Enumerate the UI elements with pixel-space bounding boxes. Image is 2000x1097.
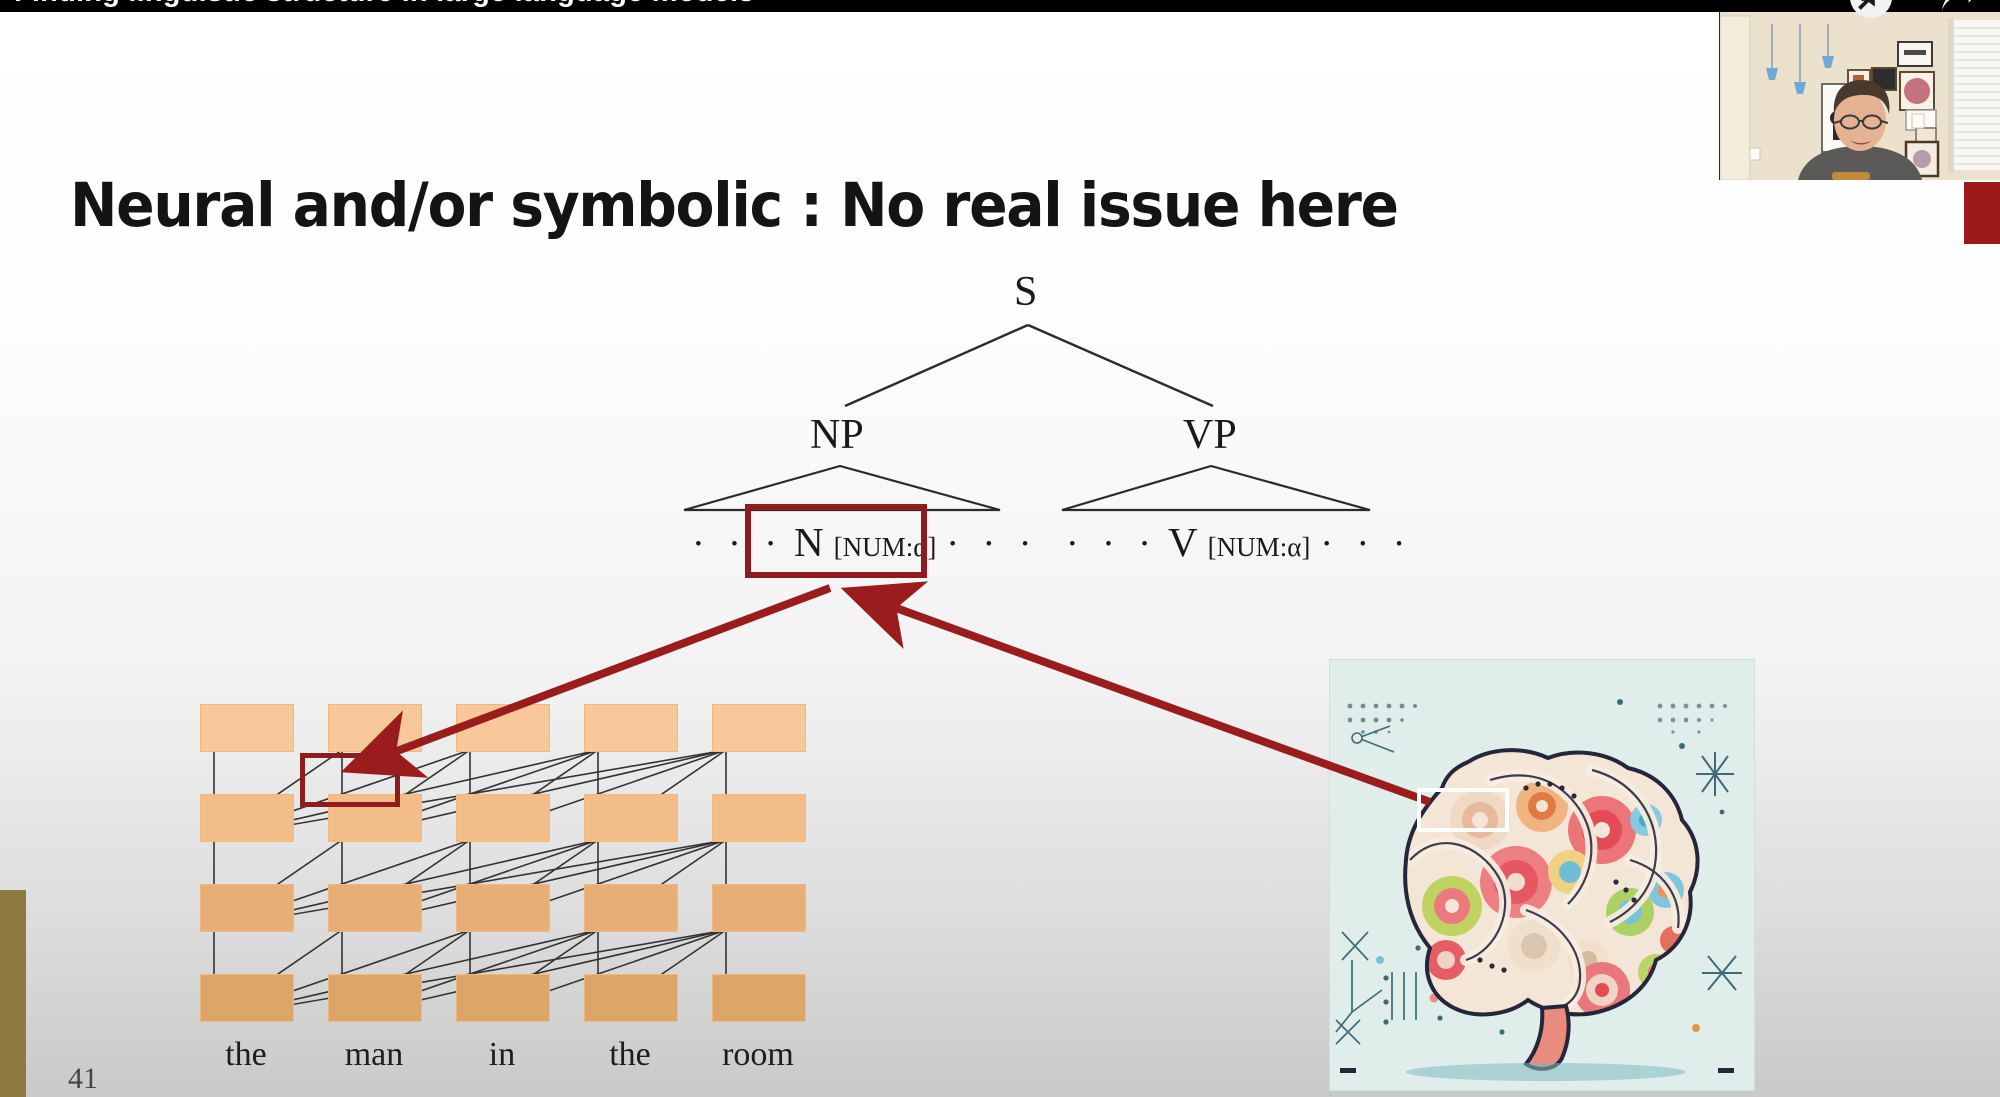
video-title: Finding linguistic structure in large la… <box>14 0 755 9</box>
screen: Neural and/or symbolic : No real issue h… <box>0 0 2000 1097</box>
input-word: the <box>575 1036 685 1074</box>
video-title-bar: Finding linguistic structure in large la… <box>0 0 2000 12</box>
network-unit <box>200 794 294 842</box>
neural-network-diagram: the man in the room <box>200 640 840 1060</box>
page-title: Neural and/or symbolic : No real issue h… <box>70 170 1398 241</box>
slide-page-number: 41 <box>68 1062 98 1096</box>
network-unit <box>328 704 422 752</box>
input-word: in <box>447 1036 557 1074</box>
network-unit <box>584 704 678 752</box>
network-unit <box>200 704 294 752</box>
leaf-features-v: [NUM:α] <box>1208 532 1311 563</box>
network-unit <box>328 884 422 932</box>
network-unit <box>584 794 678 842</box>
network-unit <box>456 884 550 932</box>
network-unit <box>584 884 678 932</box>
leaf-head-v: V <box>1168 518 1198 566</box>
ellipsis-left: · · · <box>1066 522 1158 566</box>
network-unit <box>456 974 550 1022</box>
ellipsis-right: · · · <box>946 522 1038 566</box>
ellipsis-right: · · · <box>1320 522 1412 566</box>
speaker-webcam-video[interactable] <box>1719 10 2000 180</box>
video-controls <box>1848 0 1982 20</box>
share-screen-icon[interactable] <box>1936 0 1982 20</box>
tree-node-vp: VP <box>1183 411 1237 459</box>
network-unit <box>456 704 550 752</box>
input-word: man <box>319 1036 429 1074</box>
recording-indicator <box>1964 182 2000 244</box>
mute-icon[interactable] <box>1848 0 1894 20</box>
slide-canvas: Neural and/or symbolic : No real issue h… <box>0 10 2000 1097</box>
tree-node-np: NP <box>810 411 864 459</box>
brain-illustration <box>1330 660 1754 1090</box>
network-unit <box>328 974 422 1022</box>
network-unit <box>200 974 294 1022</box>
network-unit <box>712 794 806 842</box>
brain-region-highlight-box <box>1417 788 1509 832</box>
highlighted-network-unit <box>300 753 400 807</box>
tree-node-s: S <box>1014 268 1037 316</box>
network-unit <box>456 794 550 842</box>
tree-leaf-verb: · · · V [NUM:α] · · · <box>1066 518 1412 566</box>
network-unit <box>712 884 806 932</box>
input-word: the <box>191 1036 301 1074</box>
network-unit <box>200 884 294 932</box>
network-unit <box>712 704 806 752</box>
noun-node-highlight-box <box>745 504 927 578</box>
left-edge-strip <box>0 890 26 1097</box>
input-word: room <box>703 1036 813 1074</box>
network-unit <box>584 974 678 1022</box>
network-unit <box>712 974 806 1022</box>
